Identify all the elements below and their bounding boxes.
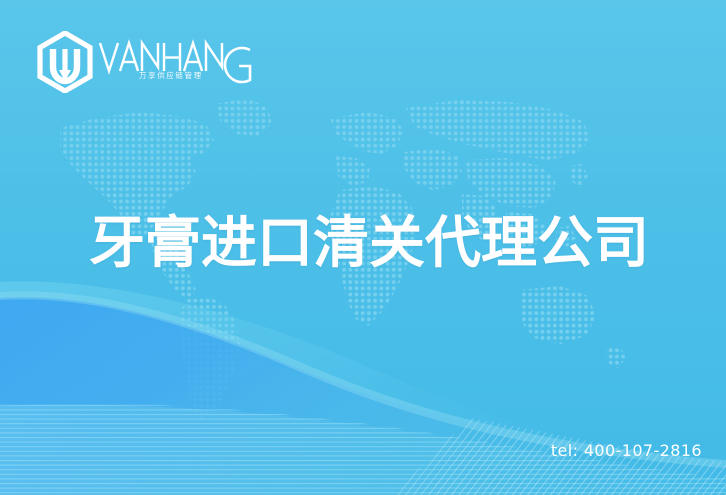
brand-logo[interactable]: 万享供应链管理: [36, 31, 276, 93]
vanhang-hexagon-icon: [36, 31, 94, 93]
page-title: 牙膏进口清关代理公司: [89, 213, 649, 275]
brand-subtitle-cn: 万享供应链管理: [139, 70, 203, 81]
marketing-banner: 万享供应链管理 牙膏进口清关代理公司 tel: 400-107-2816: [0, 0, 726, 495]
vanhang-wordmark: [98, 37, 278, 89]
contact-phone[interactable]: tel: 400-107-2816: [551, 441, 702, 460]
